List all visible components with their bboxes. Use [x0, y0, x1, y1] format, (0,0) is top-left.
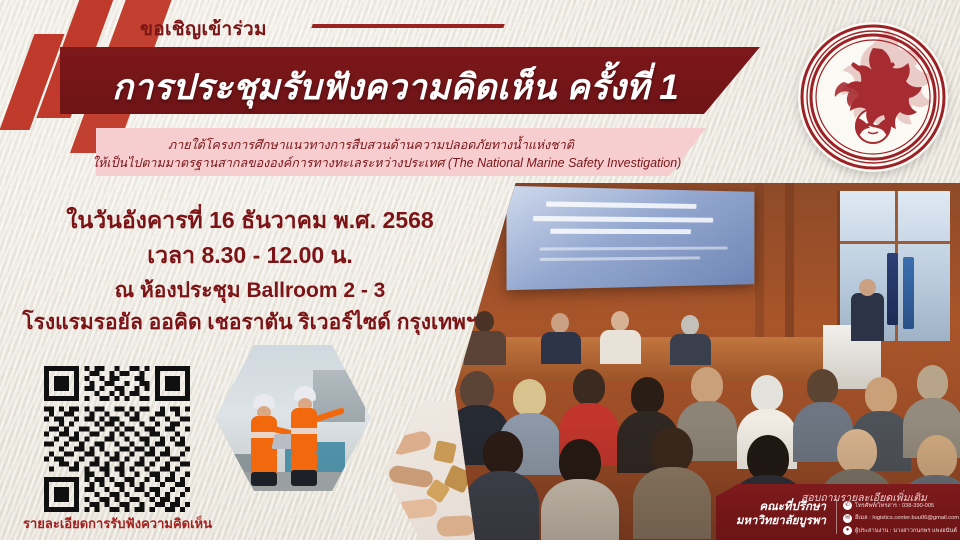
invite-label: ขอเชิญเข้าร่วม — [140, 14, 267, 44]
contact-rows: ✆ โทรศัพท์/โทรสาร : 038-390-005 ✉ อีเมล … — [843, 500, 959, 538]
contact-row-phone: ✆ โทรศัพท์/โทรสาร : 038-390-005 — [843, 500, 959, 512]
phone-icon: ✆ — [843, 501, 852, 510]
person-icon: ● — [843, 526, 852, 535]
contact-row-email: ✉ อีเมล : logistics.center.buu06@gmail.c… — [843, 513, 959, 525]
contact-org-line-1: คณะที่ปรึกษา — [726, 500, 826, 514]
hex-photo-workers — [215, 342, 371, 494]
contact-phone-text: โทรศัพท์/โทรสาร : 038-390-005 — [855, 502, 934, 510]
contact-org-line-2: มหาวิทยาลัยบูรพา — [726, 514, 826, 528]
email-icon: ✉ — [843, 514, 852, 523]
subtitle-line-2: ให้เป็นไปตามมาตรฐานสากลขององค์การทางทะเล… — [92, 153, 681, 173]
event-venue: โรงแรมรอยัล ออคิด เชอราตัน ริเวอร์ไซด์ ก… — [0, 306, 500, 339]
invite-rule-decor — [311, 24, 504, 28]
subtitle-line-1: ภายใต้โครงการศึกษาแนวทางการสืบสวนด้านควา… — [168, 135, 574, 155]
qr-caption: รายละเอียดการรับฟังความคิดเห็น — [0, 513, 235, 534]
contact-divider — [836, 500, 837, 534]
contact-coordinator-text: ผู้ประสานงาน : นางสาวกนกพร แพงอนันต์ — [855, 527, 957, 535]
page-title: การประชุมรับฟังความคิดเห็น ครั้งที่ 1 — [112, 60, 752, 115]
contact-row-coordinator: ● ผู้ประสานงาน : นางสาวกนกพร แพงอนันต์ — [843, 525, 959, 537]
event-time: เวลา 8.30 - 12.00 น. — [0, 238, 500, 274]
event-date: ในวันอังคารที่ 16 ธันวาคม พ.ศ. 2568 — [0, 203, 500, 239]
contact-organization: คณะที่ปรึกษา มหาวิทยาลัยบูรพา — [726, 500, 826, 528]
burapha-university-seal-icon — [798, 22, 948, 172]
event-room: ณ ห้องประชุม Ballroom 2 - 3 — [0, 274, 500, 307]
qr-code[interactable] — [33, 366, 201, 512]
contact-email-text: อีเมล : logistics.center.buu06@gmail.com — [855, 514, 959, 522]
poster-canvas: ขอเชิญเข้าร่วม การประชุมรับฟังความคิดเห็… — [0, 0, 960, 540]
